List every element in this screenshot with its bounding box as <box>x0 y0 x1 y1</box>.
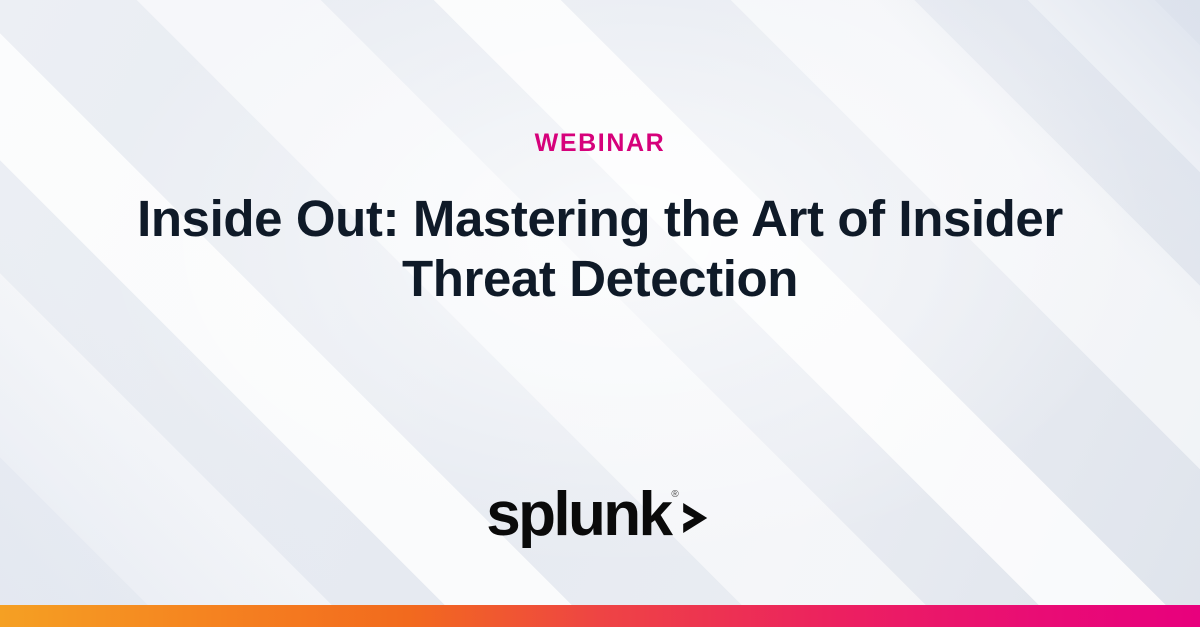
content-type-eyebrow: WEBINAR <box>535 131 666 156</box>
footer-gradient-bar <box>0 605 1200 627</box>
page-title-line-1: Inside Out: Mastering the Art of Insider <box>110 189 1090 249</box>
page-title: Inside Out: Mastering the Art of Insider… <box>110 189 1090 309</box>
page-title-line-2: Threat Detection <box>110 249 1090 309</box>
card-content: WEBINAR Inside Out: Mastering the Art of… <box>0 0 1200 627</box>
webinar-promo-card: WEBINAR Inside Out: Mastering the Art of… <box>0 0 1200 627</box>
